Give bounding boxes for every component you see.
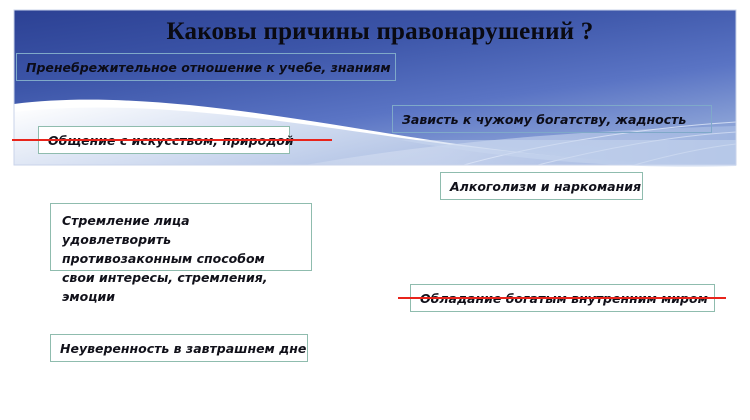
callout-rich-inner-world[interactable]: Обладание богатым внутренним миром — [410, 284, 715, 312]
callout-communion-with-art[interactable]: Общение с искусством, природой — [38, 126, 290, 154]
callout-uncertainty-about-tomorrow[interactable]: Неуверенность в завтрашнем дне — [50, 334, 308, 362]
callout-desire-to-satisfy-illegally[interactable]: Стремление лица удовлетворить противозак… — [50, 203, 312, 271]
callout-alcoholism-drug-addiction[interactable]: Алкоголизм и наркомания — [440, 172, 643, 200]
callout-neglect-of-study[interactable]: Пренебрежительное отношение к учебе, зна… — [16, 53, 396, 81]
callout-envy-greed[interactable]: Зависть к чужому богатству, жадность — [392, 105, 712, 133]
page-title: Каковы причины правонарушений ? — [120, 17, 640, 47]
presentation-slide: Каковы причины правонарушений ? Пренебре… — [0, 0, 750, 420]
